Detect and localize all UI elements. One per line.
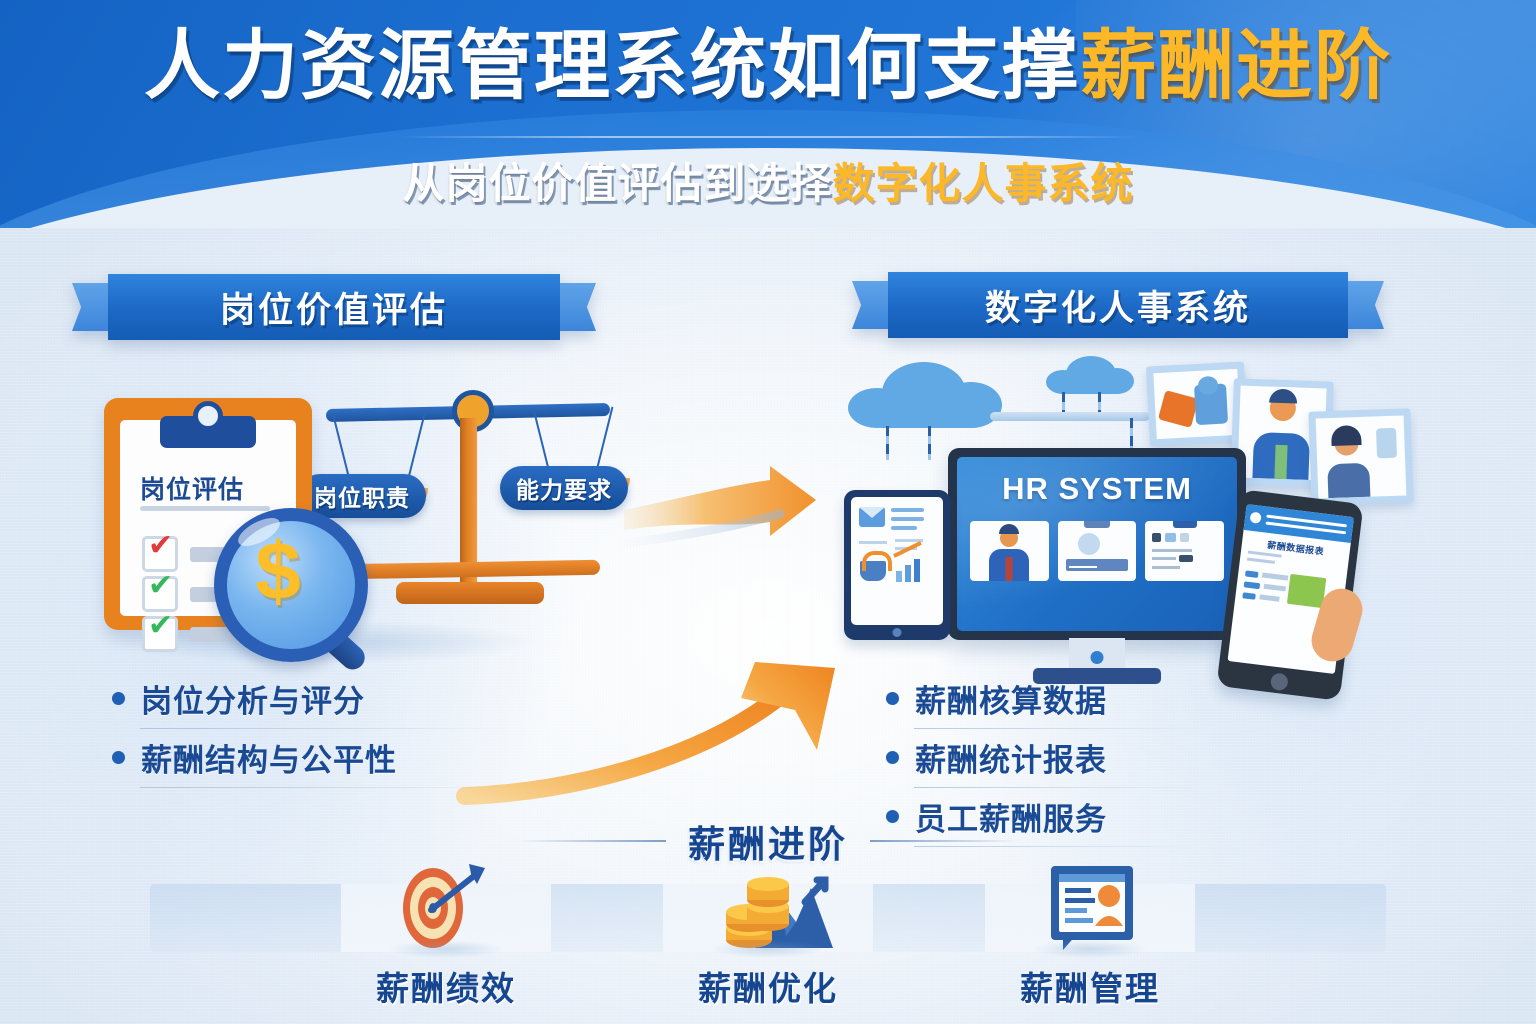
screen-card-employee [970,521,1049,581]
cloud-connection-line [1062,392,1065,414]
list-item-rule [914,787,1226,788]
heading-rule-right [870,840,1020,842]
section-banner-left: 岗位价值评估 [108,274,560,340]
list-item-rule [140,787,542,788]
header-banner: 人力资源管理系统如何支撑薪酬进阶 从岗位价值评估到选择数字化人事系统 [0,0,1536,228]
page-subtitle-highlight: 数字化人事系统 [833,160,1134,207]
connection-rail [990,412,1150,421]
list-item-label: 岗位分析与评分 [141,676,365,721]
bullet-dot-icon [112,692,125,705]
phone-home-button [1270,672,1289,691]
bullet-dot-icon [886,751,899,764]
magnifier-dollar-icon: $ [214,508,364,658]
person-body [1327,463,1370,498]
orange-arrow-right-icon [620,448,880,558]
bar-chart-bar [896,571,902,582]
bottom-item-label: 薪酬绩效 [376,962,516,1010]
screen-card-profile [1058,521,1137,581]
check-mark-icon: ✔ [148,611,173,641]
page-subtitle: 从岗位价值评估到选择数字化人事系统 [0,150,1536,211]
cloud-connection-line [886,426,889,460]
bottom-item-optimization: 薪酬优化 [663,862,873,1010]
text-line [891,517,924,521]
person-tie [1274,445,1287,479]
cloud-connection-line [928,426,931,460]
cloud-connection-line [1098,392,1101,414]
cloud-icon [848,362,1008,428]
checkbox: ✔ [142,616,178,652]
heading-rule-left [516,840,666,842]
bottom-item-performance: 薪酬绩效 [341,862,551,1010]
list-item-rule [914,728,1226,729]
checkbox: ✔ [142,576,178,612]
monitor-indicator [1091,651,1104,664]
page-subtitle-main: 从岗位价值评估到选择 [402,160,832,207]
bottom-item-row: 薪酬绩效 [0,862,1536,1010]
scale-post [460,418,477,586]
bar-chart-bar [905,565,911,582]
page-title-main: 人力资源管理系统如何支撑 [144,24,1080,109]
text-line [891,526,917,530]
bottom-heading-label: 薪酬进阶 [688,814,848,868]
digital-hr-illustration: HR SYSTEM [830,352,1420,682]
tablet-home-button [893,628,902,637]
list-item-label: 薪酬统计报表 [915,735,1107,780]
bottom-section-heading: 薪酬进阶 [0,814,1536,868]
list-item-rule [140,728,542,729]
target-arrow-icon [371,862,521,958]
list-item: 岗位分析与评分 [112,676,532,721]
scale-crossbar [342,560,600,580]
section-banner-right: 数字化人事系统 [888,272,1348,338]
list-item: 薪酬核算数据 [886,676,1216,721]
bottom-item-label: 薪酬优化 [698,962,838,1010]
icon-shadow [387,940,505,958]
person-hair [1331,425,1362,446]
screen-card-row [970,521,1224,581]
person-shape [1158,390,1199,428]
list-item-label: 薪酬核算数据 [915,676,1107,721]
page-title: 人力资源管理系统如何支撑薪酬进阶 [0,26,1536,108]
bottom-item-label: 薪酬管理 [1020,962,1160,1010]
list-item-label: 薪酬结构与公平性 [141,735,397,780]
bottom-item-management: 薪酬管理 [985,862,1195,1010]
desktop-monitor-icon: HR SYSTEM [948,448,1246,640]
list-item: 薪酬统计报表 [886,735,1216,780]
title-divider [398,136,1138,138]
scale-string [332,415,349,478]
checkbox: ✔ [142,536,178,572]
text-line [891,508,924,512]
check-mark-icon: ✔ [148,571,173,601]
photo-inner [1316,415,1407,498]
list-chip [1244,581,1261,589]
list-chip [1245,570,1259,578]
icon-shadow [1031,940,1149,958]
list-item: 薪酬结构与公平性 [112,735,532,780]
monitor-shape [1376,428,1397,459]
bar-chart-bar [914,559,920,582]
bullet-dot-icon [112,751,125,764]
scale-string [533,409,550,470]
check-mark-icon: ✔ [148,531,173,561]
list-line [1259,594,1279,601]
monitor-screen: HR SYSTEM [957,457,1237,631]
clipboard-title: 岗位评估 [140,470,244,506]
left-bullet-list: 岗位分析与评分 薪酬结构与公平性 [112,676,532,794]
list-chip [1242,592,1256,600]
cloud-icon [1046,356,1136,396]
job-evaluation-illustration: 岗位职责 能力要求 岗位评估 ✔ ✔ ✔ [86,360,656,660]
employee-photo-card [1308,408,1413,506]
hr-system-label: HR SYSTEM [957,471,1237,507]
employee-card-icon [1015,862,1165,958]
bullet-dot-icon [886,692,899,705]
screen-card-report [1145,521,1224,581]
person-hair [1269,389,1297,404]
scale-base [396,582,544,604]
infographic-canvas: 人力资源管理系统如何支撑薪酬进阶 从岗位价值评估到选择数字化人事系统 岗位价值评… [0,0,1536,1024]
page-title-highlight: 薪酬进阶 [1080,24,1392,109]
section-banner-left-label: 岗位价值评估 [220,282,448,333]
section-banner-right-label: 数字化人事系统 [985,280,1251,331]
list-line [1262,572,1288,580]
list-line [1264,584,1286,592]
coins-growth-icon [693,862,843,958]
icon-shadow [709,940,827,958]
photo-inner [1153,369,1240,439]
clipboard-ring [193,401,223,431]
scale-string [408,413,425,476]
scale-chip-right: 能力要求 [500,466,628,510]
